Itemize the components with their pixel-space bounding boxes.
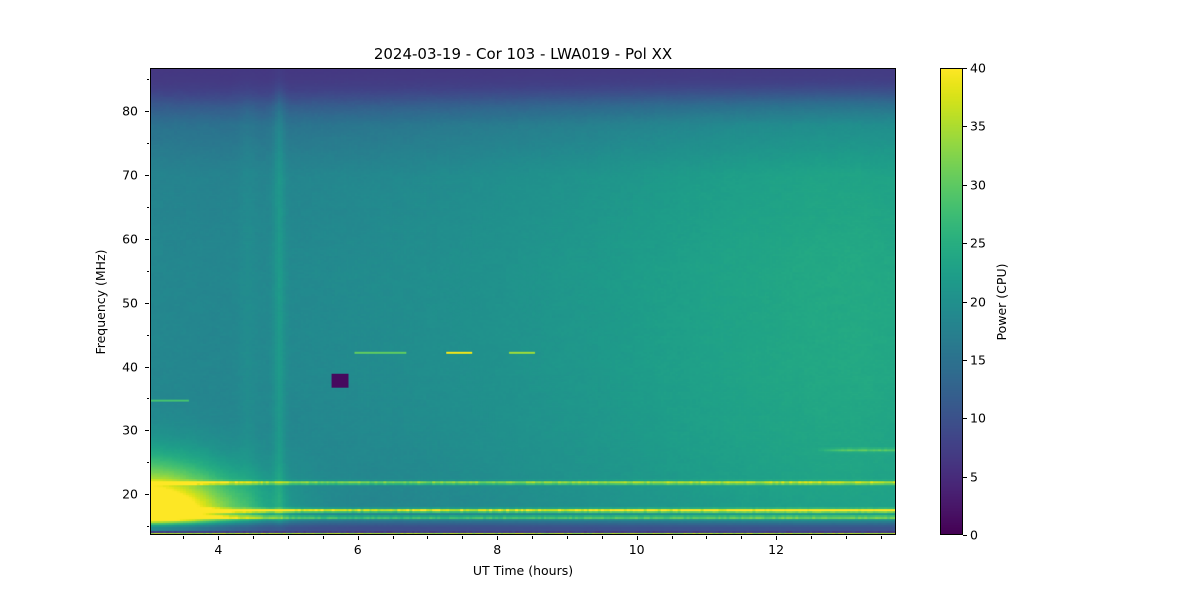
y-tick-label: 30 [0, 423, 138, 438]
y-minor-tick-mark [147, 398, 150, 399]
x-minor-tick-mark [532, 536, 533, 539]
colorbar-tick-label: 5 [970, 469, 978, 484]
x-minor-tick-mark [288, 536, 289, 539]
x-tick-mark [358, 536, 359, 540]
colorbar-tick-mark [963, 185, 967, 186]
colorbar-tick-label: 35 [970, 119, 986, 134]
colorbar-label: Power (CPU) [994, 264, 1009, 341]
colorbar-tick-label: 25 [970, 236, 986, 251]
colorbar-tick-label: 20 [970, 294, 986, 309]
x-tick-mark [218, 536, 219, 540]
y-tick-mark [145, 175, 149, 176]
y-axis-label: Frequency (MHz) [93, 249, 108, 354]
x-minor-tick-mark [462, 536, 463, 539]
x-tick-label: 12 [768, 542, 784, 557]
x-tick-mark [776, 536, 777, 540]
x-tick-label: 10 [629, 542, 645, 557]
y-tick-mark [145, 303, 149, 304]
y-tick-mark [145, 111, 149, 112]
colorbar-tick-mark [963, 360, 967, 361]
y-tick-label: 80 [0, 104, 138, 119]
y-minor-tick-mark [147, 335, 150, 336]
x-tick-mark [637, 536, 638, 540]
colorbar-tick-label: 0 [970, 528, 978, 543]
y-tick-label: 70 [0, 168, 138, 183]
x-minor-tick-mark [393, 536, 394, 539]
colorbar-tick-mark [963, 302, 967, 303]
x-axis-label: UT Time (hours) [150, 563, 896, 578]
x-minor-tick-mark [881, 536, 882, 539]
colorbar-tick-mark [963, 535, 967, 536]
colorbar-tick-label: 15 [970, 352, 986, 367]
colorbar-tick-label: 10 [970, 411, 986, 426]
colorbar-tick-mark [963, 477, 967, 478]
colorbar-gradient [941, 69, 962, 534]
colorbar[interactable] [940, 68, 963, 535]
x-minor-tick-mark [811, 536, 812, 539]
y-tick-mark [145, 367, 149, 368]
x-minor-tick-mark [427, 536, 428, 539]
y-minor-tick-mark [147, 143, 150, 144]
y-minor-tick-mark [147, 79, 150, 80]
x-minor-tick-mark [672, 536, 673, 539]
y-tick-mark [145, 239, 149, 240]
y-minor-tick-mark [147, 462, 150, 463]
y-tick-label: 40 [0, 359, 138, 374]
x-tick-mark [497, 536, 498, 540]
colorbar-tick-mark [963, 418, 967, 419]
colorbar-tick-label: 40 [970, 61, 986, 76]
colorbar-tick-mark [963, 126, 967, 127]
x-minor-tick-mark [706, 536, 707, 539]
y-minor-tick-mark [147, 526, 150, 527]
y-minor-tick-mark [147, 271, 150, 272]
y-tick-label: 50 [0, 295, 138, 310]
x-minor-tick-mark [602, 536, 603, 539]
colorbar-tick-mark [963, 243, 967, 244]
y-minor-tick-mark [147, 207, 150, 208]
figure-title: 2024-03-19 - Cor 103 - LWA019 - Pol XX [150, 45, 896, 63]
y-tick-label: 20 [0, 487, 138, 502]
x-tick-label: 8 [493, 542, 501, 557]
x-minor-tick-mark [846, 536, 847, 539]
y-tick-label: 60 [0, 231, 138, 246]
spectrogram-heatmap [151, 69, 895, 534]
colorbar-tick-mark [963, 68, 967, 69]
x-minor-tick-mark [323, 536, 324, 539]
colorbar-tick-label: 30 [970, 177, 986, 192]
spectrogram-axes[interactable] [150, 68, 896, 535]
y-tick-mark [145, 430, 149, 431]
y-tick-mark [145, 494, 149, 495]
x-minor-tick-mark [183, 536, 184, 539]
x-tick-label: 4 [214, 542, 222, 557]
x-minor-tick-mark [741, 536, 742, 539]
spectrogram-figure: 2024-03-19 - Cor 103 - LWA019 - Pol XX 4… [0, 0, 1200, 600]
x-minor-tick-mark [567, 536, 568, 539]
x-tick-label: 6 [354, 542, 362, 557]
x-minor-tick-mark [253, 536, 254, 539]
